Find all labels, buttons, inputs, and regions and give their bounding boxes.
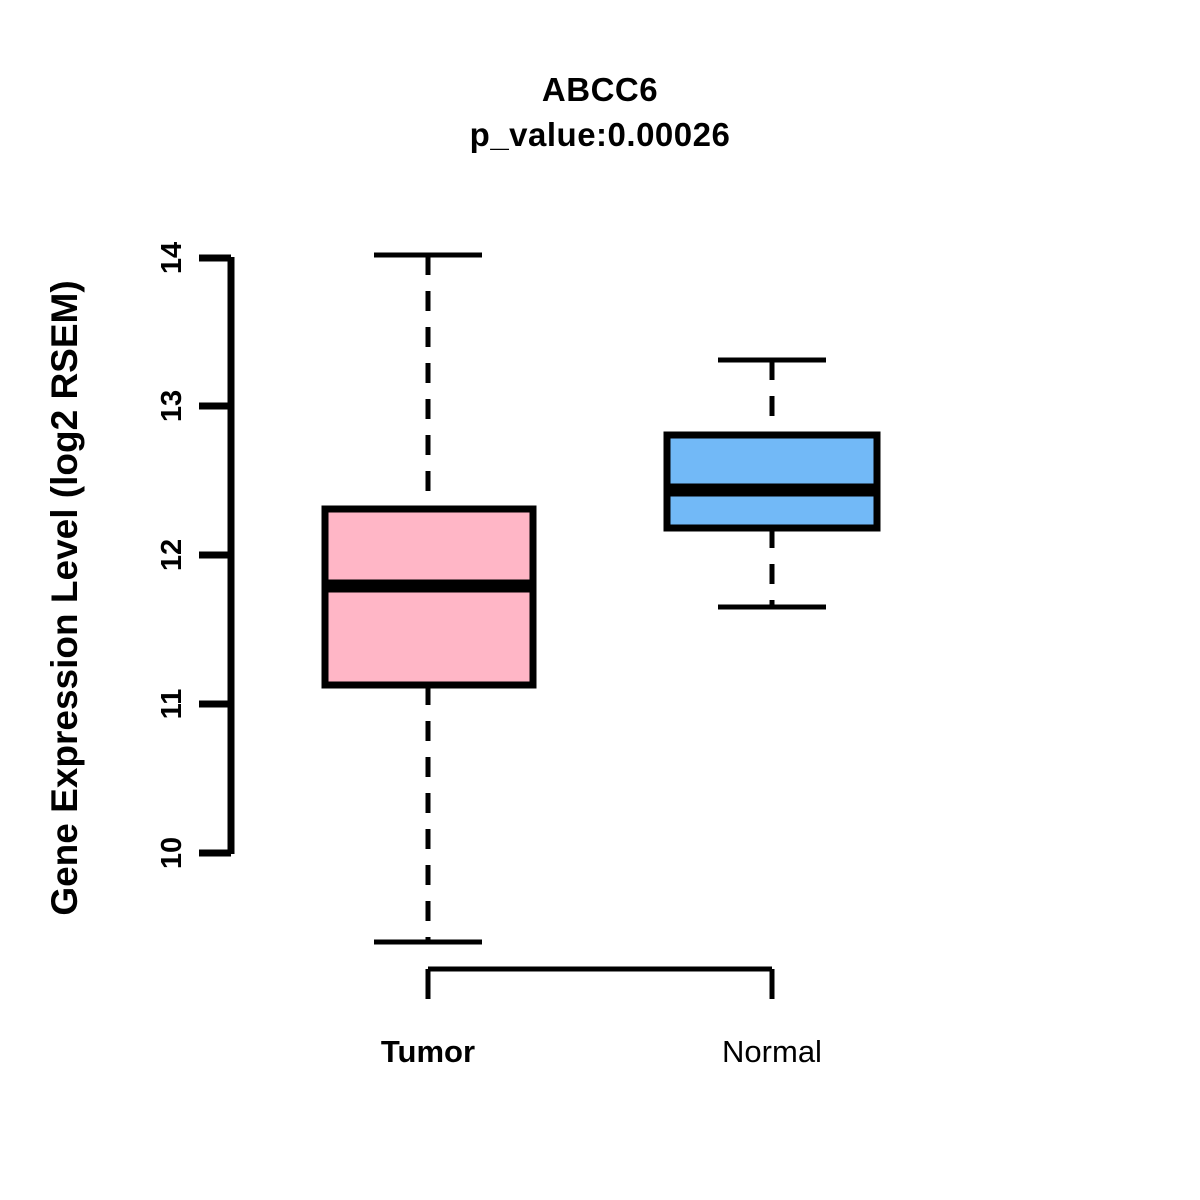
plot-canvas: 14 13 12 11 10 [0, 0, 1200, 1200]
x-axis-label-tumor: Tumor [381, 1034, 475, 1069]
y-axis-tick-label-14: 14 [156, 242, 188, 274]
box-group-tumor[interactable] [322, 255, 536, 942]
tumor-box-iqr[interactable] [325, 509, 533, 685]
y-axis-tick-label-10: 10 [156, 837, 188, 869]
x-axis-label-normal: Normal [722, 1034, 822, 1069]
normal-box-iqr[interactable] [667, 435, 877, 528]
y-axis: 14 13 12 11 10 [156, 242, 231, 869]
x-axis: Tumor Normal [381, 969, 822, 1069]
box-group-normal[interactable] [664, 360, 880, 607]
y-axis-tick-label-12: 12 [156, 539, 188, 571]
y-axis-tick-label-13: 13 [156, 390, 188, 422]
y-axis-tick-label-11: 11 [156, 689, 188, 720]
boxplot-figure: ABCC6 p_value:0.00026 Gene Expression Le… [0, 0, 1200, 1200]
